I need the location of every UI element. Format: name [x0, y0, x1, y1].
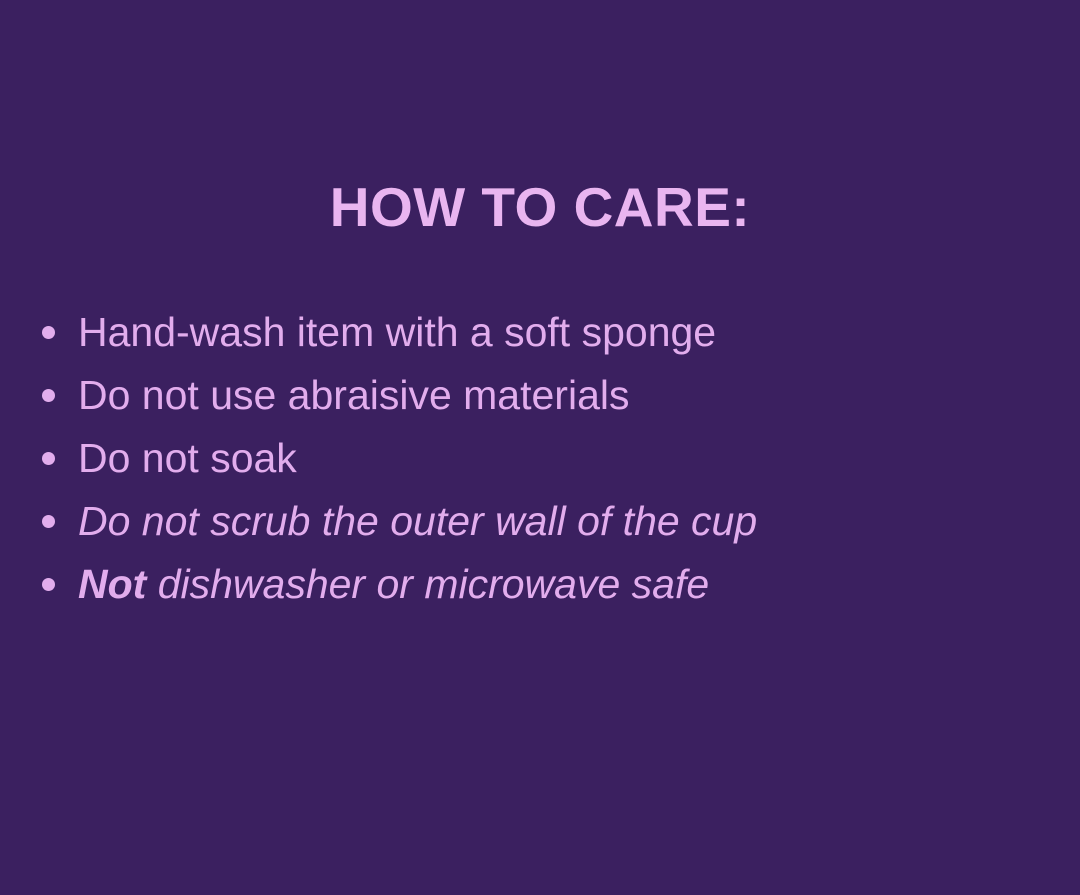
list-item: Do not use abraisive materials [30, 366, 1050, 429]
list-item-label: Hand-wash item with a soft sponge [78, 309, 716, 355]
care-instructions-card: HOW TO CARE: Hand-wash item with a soft … [0, 0, 1080, 895]
list-item-label: Not dishwasher or microwave safe [78, 561, 709, 607]
list-item: Not dishwasher or microwave safe [30, 555, 1050, 618]
care-instructions-list: Hand-wash item with a soft sponge Do not… [30, 303, 1050, 618]
bullet-dot-icon [42, 515, 55, 528]
list-item: Do not soak [30, 429, 1050, 492]
list-item-label: Do not soak [78, 435, 297, 481]
list-item: Hand-wash item with a soft sponge [30, 303, 1050, 366]
list-item-label: Do not scrub the outer wall of the cup [78, 498, 757, 544]
list-item: Do not scrub the outer wall of the cup [30, 492, 1050, 555]
list-item-emphasis: Not [78, 561, 146, 607]
bullet-dot-icon [42, 452, 55, 465]
bullet-dot-icon [42, 578, 55, 591]
bullet-dot-icon [42, 389, 55, 402]
page-title: HOW TO CARE: [0, 176, 1080, 238]
list-item-label: Do not use abraisive materials [78, 372, 629, 418]
list-item-rest: dishwasher or microwave safe [146, 561, 709, 607]
bullet-dot-icon [42, 326, 55, 339]
